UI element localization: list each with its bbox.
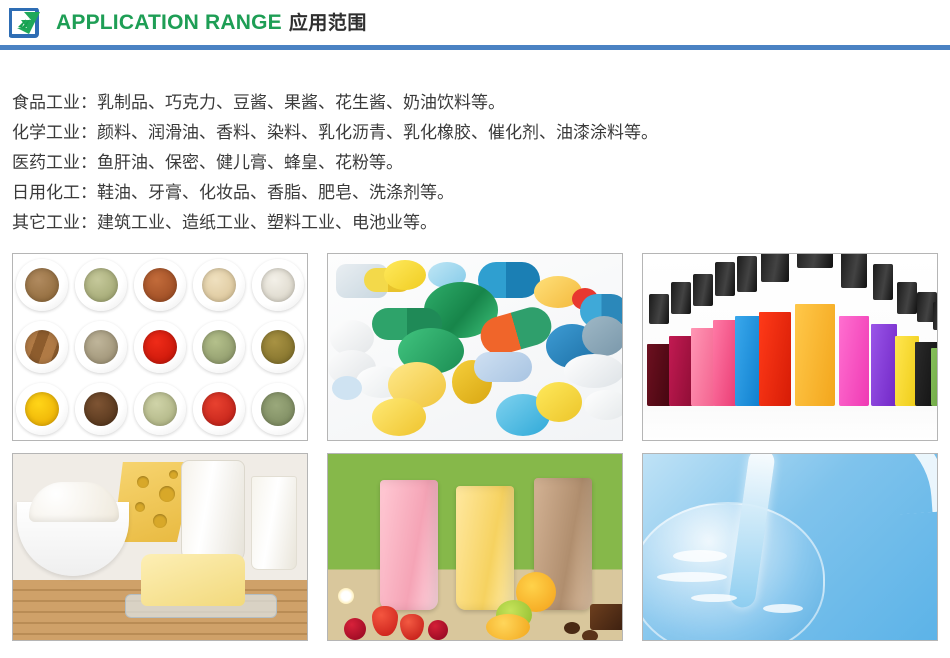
spice-bowl xyxy=(72,378,131,440)
nail-polish-bottle xyxy=(839,284,869,406)
page-title-cn: 应用范围 xyxy=(289,13,367,34)
nail-polish-bottle xyxy=(871,296,897,406)
description-line-chemical: 化学工业：颜料、润滑油、香料、染料、乳化沥青、乳化橡胶、催化剂、油漆涂料等。 xyxy=(12,118,942,148)
nail-polish-bottle xyxy=(795,264,835,406)
water-splash xyxy=(673,550,727,562)
pill xyxy=(584,390,622,420)
smoothie-mango xyxy=(456,486,514,610)
strawberry xyxy=(400,614,424,640)
spice-bowl xyxy=(13,254,72,316)
spice-bowl xyxy=(189,316,248,378)
pill xyxy=(564,354,622,388)
photo-pills xyxy=(327,253,623,441)
water-splash xyxy=(691,594,737,602)
coffee-bean xyxy=(564,622,580,634)
pill xyxy=(384,260,426,290)
cherry xyxy=(428,620,448,640)
nail-polish-bottle xyxy=(669,310,693,406)
coffee-bean xyxy=(582,630,598,640)
square-arrow-logo-icon xyxy=(9,8,41,38)
description-line-pharma: 医药工业：鱼肝油、保密、健儿膏、蜂皇、花粉等。 xyxy=(12,148,942,178)
nail-polish-bottle xyxy=(759,278,791,406)
strawberry xyxy=(372,606,398,636)
spice-bowl xyxy=(131,378,190,440)
photo-dairy xyxy=(12,453,308,641)
application-photo-gallery xyxy=(12,253,938,645)
photo-spices xyxy=(12,253,308,441)
water-splash xyxy=(763,604,803,613)
flower xyxy=(338,588,354,604)
nail-polish-bottle xyxy=(647,320,671,406)
spice-bowl xyxy=(72,316,131,378)
capsule xyxy=(474,352,532,382)
butter-block xyxy=(141,554,245,606)
milk-glass xyxy=(251,476,297,570)
nail-polish-bottle xyxy=(691,302,715,406)
spice-bowl xyxy=(189,254,248,316)
description-line-other: 其它工业：建筑工业、造纸工业、塑料工业、电池业等。 xyxy=(12,208,942,238)
spice-bowl xyxy=(248,316,307,378)
milk-jug xyxy=(181,460,245,566)
spice-bowl xyxy=(13,316,72,378)
spice-bowl-grid xyxy=(13,254,307,440)
bottle-reflection xyxy=(643,406,937,440)
description-line-food: 食品工业：乳制品、巧克力、豆酱、果酱、花生酱、奶油饮料等。 xyxy=(12,88,942,118)
description-line-daily: 日用化工：鞋油、牙膏、化妆品、香脂、肥皂、洗涤剂等。 xyxy=(12,178,942,208)
nail-polish-bottle xyxy=(713,292,737,406)
pill xyxy=(582,316,622,356)
page-header: APPLICATION RANGE应用范围 xyxy=(0,0,950,50)
nail-polish-bottle xyxy=(735,288,761,406)
cherry xyxy=(344,618,366,640)
spice-bowl xyxy=(13,378,72,440)
spice-bowl xyxy=(72,254,131,316)
pill xyxy=(372,398,426,436)
lemon-slice xyxy=(486,614,530,640)
spice-bowl xyxy=(131,254,190,316)
water-splash xyxy=(657,572,727,582)
nail-polish-bottle xyxy=(931,326,937,406)
chocolate-piece xyxy=(590,604,622,630)
page-title: APPLICATION RANGE应用范围 xyxy=(56,9,367,39)
spice-bowl xyxy=(248,254,307,316)
photo-nail-polish xyxy=(642,253,938,441)
application-description: 食品工业：乳制品、巧克力、豆酱、果酱、花生酱、奶油饮料等。 化学工业：颜料、润滑… xyxy=(12,88,942,238)
photo-smoothies xyxy=(327,453,623,641)
spice-bowl xyxy=(189,378,248,440)
photo-water xyxy=(642,453,938,641)
page-title-en: APPLICATION RANGE xyxy=(56,11,282,34)
smoothie-strawberry xyxy=(380,480,438,610)
spice-bowl xyxy=(131,316,190,378)
spice-bowl xyxy=(248,378,307,440)
cottage-cheese xyxy=(29,482,119,522)
header-divider xyxy=(0,45,950,50)
pill xyxy=(536,382,582,422)
pill xyxy=(332,376,362,400)
